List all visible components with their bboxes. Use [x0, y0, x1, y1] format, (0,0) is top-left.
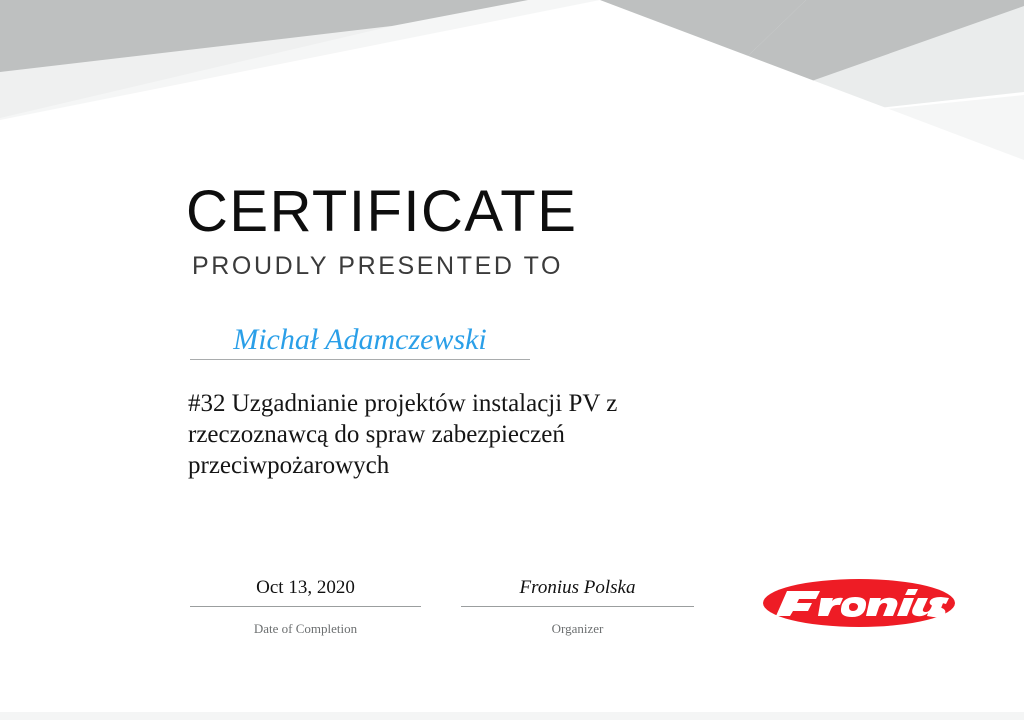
organizer-block: Fronius Polska Organizer [461, 576, 694, 637]
recipient-rule [190, 359, 530, 360]
completion-date-label: Date of Completion [190, 621, 421, 637]
decorative-polygon-banner [0, 0, 1024, 160]
bottom-strip [0, 712, 1024, 720]
fronius-logo-icon [763, 578, 955, 628]
title-block: CERTIFICATE PROUDLY PRESENTED TO [186, 183, 886, 281]
recipient-name: Michał Adamczewski [190, 322, 530, 358]
organizer-rule [461, 606, 694, 607]
completion-date-rule [190, 606, 421, 607]
page-title: CERTIFICATE [186, 183, 886, 241]
organizer-label: Organizer [461, 621, 694, 637]
completion-date-value: Oct 13, 2020 [190, 576, 421, 600]
organizer-value: Fronius Polska [461, 576, 694, 600]
completion-date-block: Oct 13, 2020 Date of Completion [190, 576, 421, 637]
page-subtitle: PROUDLY PRESENTED TO [192, 251, 886, 281]
course-title: #32 Uzgadnianie projektów instalacji PV … [188, 388, 658, 481]
certificate-page: CERTIFICATE PROUDLY PRESENTED TO Michał … [0, 0, 1024, 720]
